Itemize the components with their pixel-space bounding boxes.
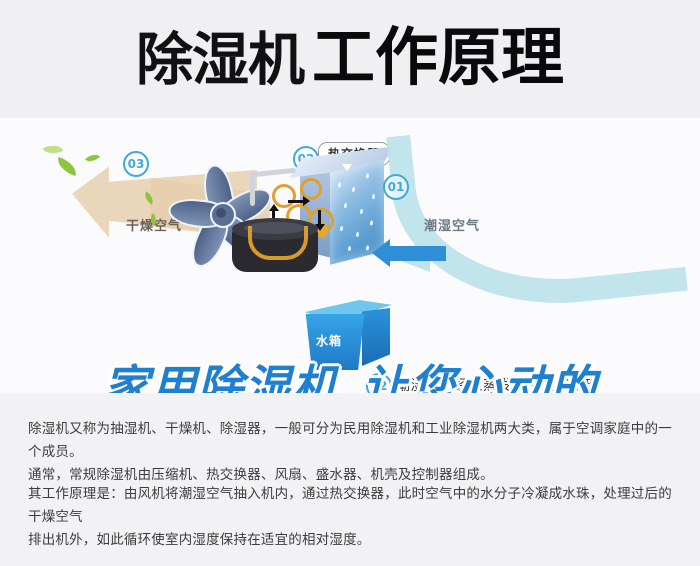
compressor-pipe [248,226,308,260]
title-band: 除湿机工作原理 [0,0,700,130]
leaf-icon [85,151,100,165]
step-text: 潮湿空气经过蒸发器冷凝成水珠 [396,375,599,393]
flow-arrow-head [303,196,310,206]
page-root: 除湿机工作原理 03 干燥空气 02 热交换器 [0,0,700,566]
page-title-part1: 除湿机 [136,27,304,93]
water-tank-label: 水箱 [316,332,342,349]
inflow-arrow-body [388,246,446,261]
step-list: 02 潮湿空气经过蒸发器冷凝成水珠 03 从上部出风口吹出清新干爽空气 [366,373,696,393]
leaf-icon [55,157,80,176]
paragraph-2: 其工作原理是：由风机将潮湿空气抽入机内，通过热交换器，此时空气中的水分子冷凝成水… [28,483,678,552]
badge-01-humid-air: 01 [383,174,409,200]
leaf-icon [43,141,64,159]
dehumidifier-diagram: 03 干燥空气 02 热交换器 [0,118,700,393]
label-humid-air: 潮湿空气 [424,215,480,234]
step-badge: 02 [366,373,392,393]
paragraph-2-line-1: 其工作原理是：由风机将潮湿空气抽入机内，通过热交换器，此时空气中的水分子冷凝成水… [28,483,678,529]
inflow-arrow-head [372,239,390,267]
flow-arrow [288,200,304,203]
flow-arrow-head [269,204,279,211]
article-body: 除湿机又称为抽湿机、干燥机、除湿器，一般可分为民用除湿机和工业除湿机两大类，属于… [0,393,700,566]
paragraph-1-line-1: 除湿机又称为抽湿机、干燥机、除湿器，一般可分为民用除湿机和工业除湿机两大类，属于… [28,418,678,464]
water-tank-side [362,308,390,366]
page-title-part2: 工作原理 [312,21,564,94]
paragraph-1: 除湿机又称为抽湿机、干燥机、除湿器，一般可分为民用除湿机和工业除湿机两大类，属于… [28,418,678,487]
coil-pipe [250,172,255,206]
paragraph-2-line-2: 排出机外，如此循环使室内湿度保持在适宜的相对湿度。 [28,529,678,552]
page-title: 除湿机工作原理 [0,26,700,89]
badge-03-dry-air: 03 [123,151,149,177]
step-item: 02 潮湿空气经过蒸发器冷凝成水珠 [366,373,696,393]
fan-hub-center [216,208,226,218]
